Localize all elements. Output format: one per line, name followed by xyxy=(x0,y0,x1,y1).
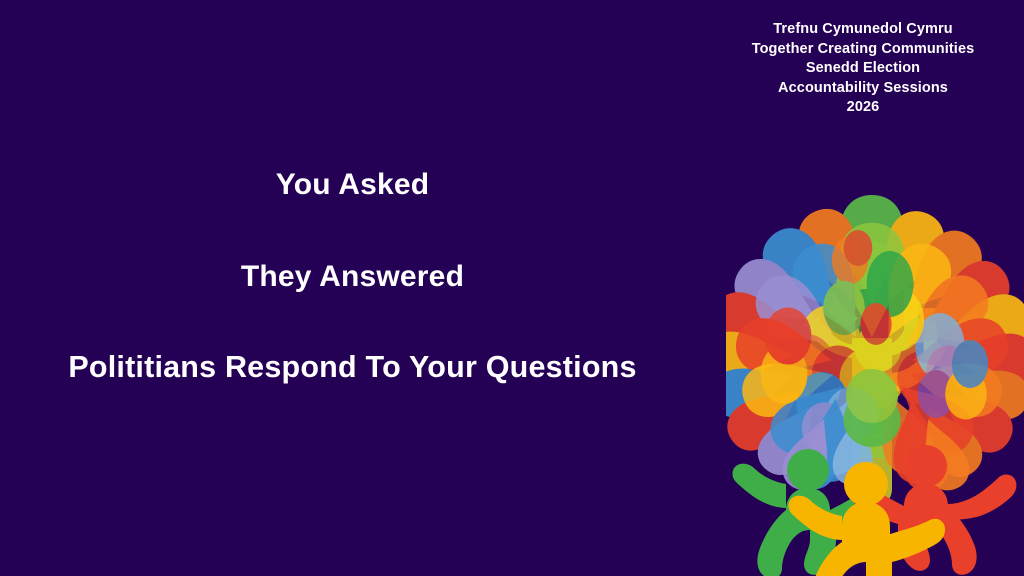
figure-center-head xyxy=(844,462,888,506)
figure-left-head xyxy=(787,449,829,491)
org-name-english: Together Creating Communities xyxy=(715,40,1011,60)
tree-logo-svg xyxy=(726,188,1024,576)
tree-logo xyxy=(726,188,1024,576)
headline-line-1: You Asked xyxy=(0,168,705,202)
event-name: Senedd Election xyxy=(715,59,1011,79)
org-name-welsh: Trefnu Cymunedol Cymru xyxy=(715,20,1011,40)
slide-canvas: Trefnu Cymunedol Cymru Together Creating… xyxy=(0,0,1024,576)
headline-line-3: Polititians Respond To Your Questions xyxy=(0,350,705,384)
page-title: You Asked They Answered Polititians Resp… xyxy=(0,168,705,384)
figure-right-head xyxy=(905,445,947,487)
organisation-header: Trefnu Cymunedol Cymru Together Creating… xyxy=(715,20,1011,118)
event-subtitle: Accountability Sessions xyxy=(715,79,1011,99)
event-year: 2026 xyxy=(715,98,1011,118)
headline-line-2: They Answered xyxy=(0,260,705,294)
